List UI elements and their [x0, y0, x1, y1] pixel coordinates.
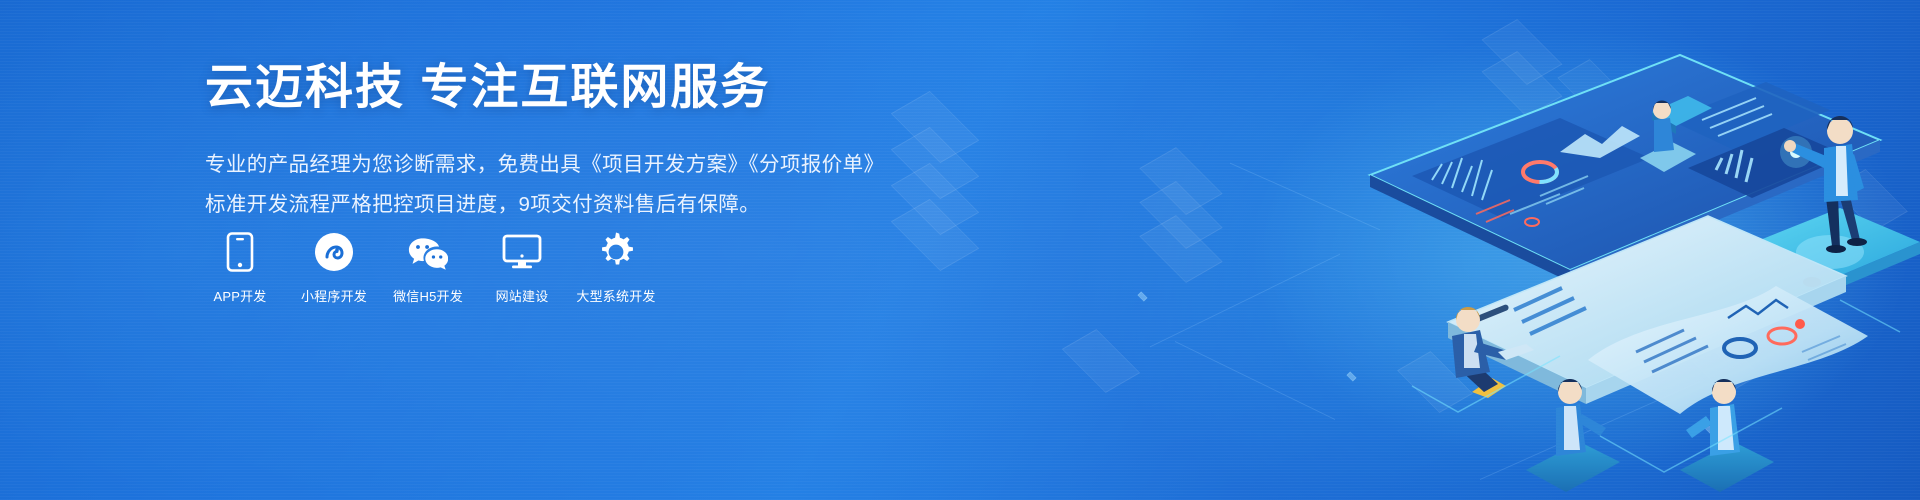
- service-label: APP开发: [213, 286, 266, 305]
- gear-icon: [596, 232, 636, 272]
- hero-content: 云迈科技 专注互联网服务 专业的产品经理为您诊断需求，免费出具《项目开发方案》《…: [205, 60, 925, 224]
- subtitle-line-2: 标准开发流程严格把控项目进度，9项交付资料售后有保障。: [205, 185, 925, 224]
- subtitle-line-1: 专业的产品经理为您诊断需求，免费出具《项目开发方案》《分项报价单》: [205, 145, 925, 184]
- mini-program-icon: [314, 232, 354, 272]
- service-item-mini-program[interactable]: 小程序开发: [299, 232, 369, 305]
- service-item-website[interactable]: 网站建设: [487, 232, 557, 305]
- service-item-app[interactable]: APP开发: [205, 232, 275, 305]
- mobile-phone-icon: [220, 232, 260, 272]
- hero-illustration: [1040, 0, 1920, 500]
- service-label: 微信H5开发: [393, 286, 463, 305]
- service-list: APP开发 小程序开发: [205, 232, 651, 305]
- hero-subtitle: 专业的产品经理为您诊断需求，免费出具《项目开发方案》《分项报价单》 标准开发流程…: [205, 145, 925, 224]
- service-label: 大型系统开发: [576, 286, 655, 305]
- page-title: 云迈科技 专注互联网服务: [205, 60, 925, 115]
- service-label: 网站建设: [496, 286, 549, 305]
- service-label: 小程序开发: [301, 286, 367, 305]
- hero-banner: 云迈科技 专注互联网服务 专业的产品经理为您诊断需求，免费出具《项目开发方案》《…: [0, 0, 1920, 500]
- wechat-icon: [408, 232, 448, 272]
- service-item-large-system[interactable]: 大型系统开发: [581, 232, 651, 305]
- service-item-wechat-h5[interactable]: 微信H5开发: [393, 232, 463, 305]
- monitor-icon: [502, 232, 542, 272]
